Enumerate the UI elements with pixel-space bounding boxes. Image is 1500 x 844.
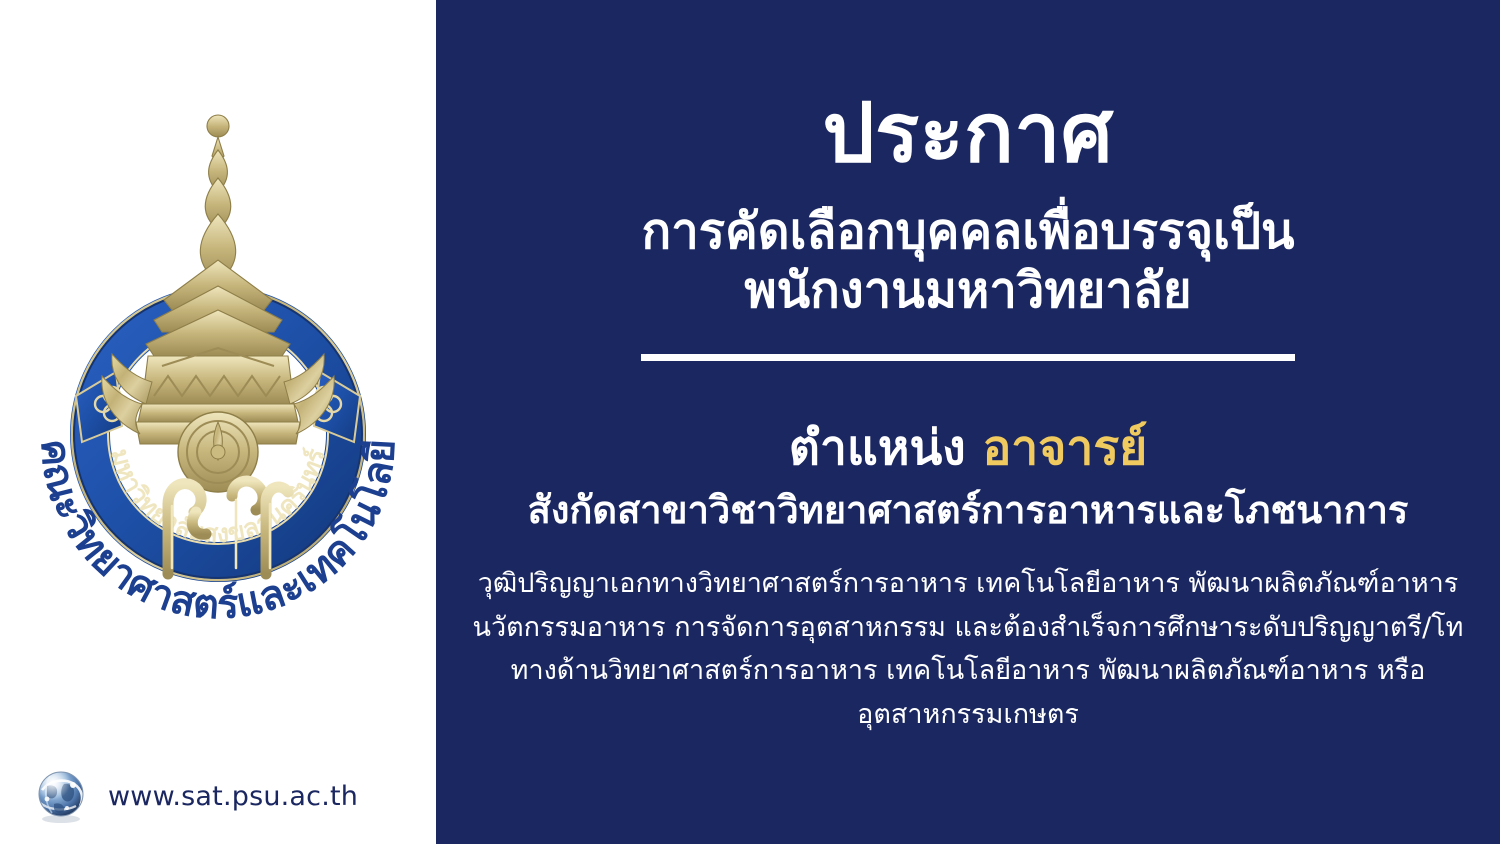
subtitle-block: การคัดเลือกบุคคลเพื่อบรรจุเป็น พนักงานมห…: [642, 202, 1295, 322]
subtitle-line-1: การคัดเลือกบุคคลเพื่อบรรจุเป็น: [642, 202, 1295, 262]
website-url[interactable]: www.sat.psu.ac.th: [108, 781, 358, 812]
qualification-line: นวัตกรรมอาหาร การจัดการอุตสาหกรรม และต้อ…: [468, 606, 1468, 650]
department-line: สังกัดสาขาวิชาวิทยาศาสตร์การอาหารและโภชน…: [528, 488, 1409, 534]
announcement-poster: มหาวิทยาลัยสงขลานครินทร์ คณะวิทยาศาสตร์แ…: [0, 0, 1500, 844]
qualifications-block: วุฒิปริญญาเอกทางวิทยาศาสตร์การอาหาร เทคโ…: [468, 562, 1468, 737]
position-role: อาจารย์: [982, 420, 1147, 476]
divider: [641, 354, 1295, 361]
subtitle-line-2: พนักงานมหาวิทยาลัย: [642, 261, 1295, 321]
qualification-line: ทางด้านวิทยาศาสตร์การอาหาร เทคโนโลยีอาหา…: [468, 649, 1468, 693]
qualification-line: วุฒิปริญญาเอกทางวิทยาศาสตร์การอาหาร เทคโ…: [468, 562, 1468, 606]
emblem-crown-spire: [136, 115, 300, 444]
qualification-line: อุตสาหกรรมเกษตร: [468, 693, 1468, 737]
page-title: ประกาศ: [823, 92, 1114, 176]
announcement-content-panel: ประกาศ การคัดเลือกบุคคลเพื่อบรรจุเป็น พน…: [436, 0, 1500, 844]
left-brand-panel: มหาวิทยาลัยสงขลานครินทร์ คณะวิทยาศาสตร์แ…: [0, 0, 436, 844]
psu-university-emblem: มหาวิทยาลัยสงขลานครินทร์ คณะวิทยาศาสตร์แ…: [18, 104, 418, 694]
position-label: ตำแหน่ง: [789, 420, 966, 476]
website-row[interactable]: www.sat.psu.ac.th: [34, 768, 358, 824]
position-line: ตำแหน่ง อาจารย์: [789, 421, 1147, 476]
globe-icon: [34, 768, 90, 824]
